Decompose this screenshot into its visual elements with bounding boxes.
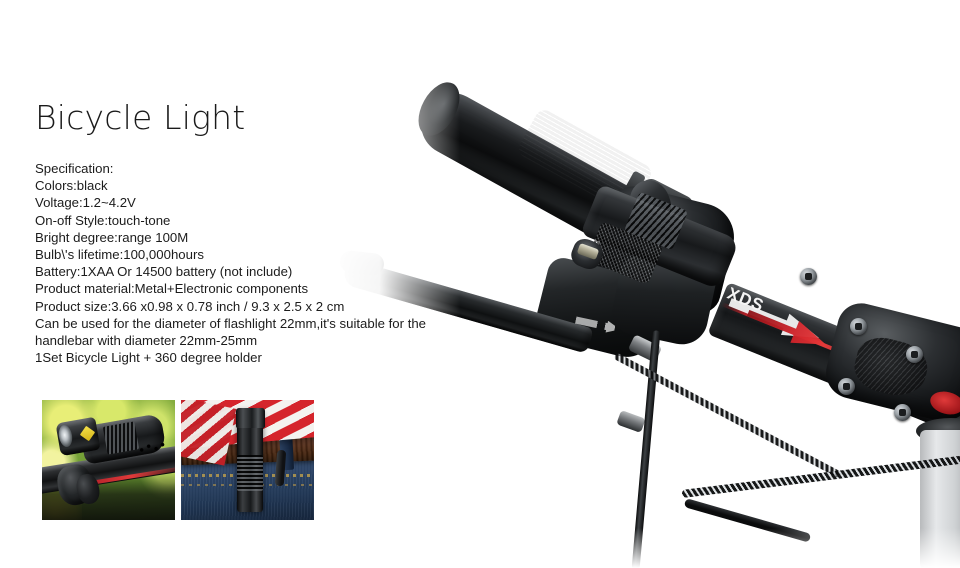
- flashlight-fins: [102, 421, 138, 454]
- bolt-socket: [911, 351, 918, 358]
- flashlight-head: [236, 408, 265, 427]
- bolt-socket: [843, 383, 850, 390]
- spec-line: Can be used for the diameter of flashlig…: [35, 315, 475, 332]
- thumbnail-flashlight-mounted-on-handlebar[interactable]: [42, 400, 175, 520]
- specification-list: Specification: Colors:black Voltage:1.2~…: [35, 160, 475, 366]
- spec-line: Product size:3.66 x0.98 x 0.78 inch / 9.…: [35, 298, 475, 315]
- stem-bolt: [894, 404, 911, 421]
- photo-edge-fade: [330, 528, 960, 568]
- spec-line: Product material:Metal+Electronic compon…: [35, 280, 475, 297]
- product-detail-page: Bicycle Light Specification: Colors:blac…: [0, 0, 960, 568]
- product-info-column: Bicycle Light Specification: Colors:blac…: [35, 98, 475, 366]
- photo-edge-fade: [330, 0, 960, 70]
- stem-bolt: [838, 378, 855, 395]
- spec-line: handlebar with diameter 22mm-25mm: [35, 332, 475, 349]
- thumbnail-gallery: [42, 400, 314, 520]
- spec-line: Bright degree:range 100M: [35, 229, 475, 246]
- stem-bolt: [850, 318, 867, 335]
- bolt-socket: [855, 323, 862, 330]
- spec-line: Bulb\'s lifetime:100,000hours: [35, 246, 475, 263]
- spec-line: Specification:: [35, 160, 475, 177]
- spec-line: Colors:black: [35, 177, 475, 194]
- spec-line: On-off Style:touch-tone: [35, 212, 475, 229]
- stem-bolt: [800, 268, 817, 285]
- bolt-socket: [899, 409, 906, 416]
- bolt-socket: [805, 273, 812, 280]
- stem-bolt: [906, 346, 923, 363]
- spec-line: 1Set Bicycle Light + 360 degree holder: [35, 349, 475, 366]
- cable-ferrule: [616, 410, 646, 433]
- spec-line: Battery:1XAA Or 14500 battery (not inclu…: [35, 263, 475, 280]
- thumbnail-flashlight-on-belt[interactable]: [181, 400, 314, 520]
- page-title: Bicycle Light: [35, 98, 475, 138]
- spec-line: Voltage:1.2~4.2V: [35, 194, 475, 211]
- flashlight-knurling: [237, 455, 263, 491]
